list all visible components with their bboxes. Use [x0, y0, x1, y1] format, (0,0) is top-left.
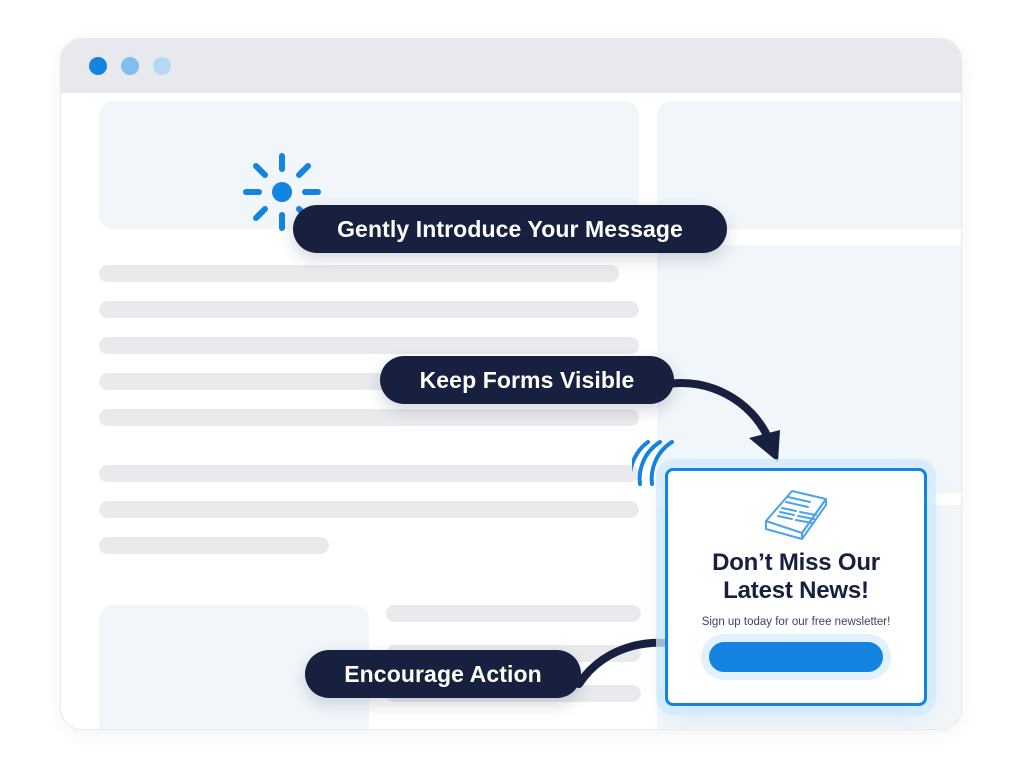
callout-label: Keep Forms Visible — [420, 367, 635, 394]
callout-label: Gently Introduce Your Message — [337, 216, 683, 243]
callout-encourage-action[interactable]: Encourage Action — [305, 650, 581, 698]
skeleton-text-bar — [99, 265, 619, 282]
callout-gently-introduce[interactable]: Gently Introduce Your Message — [293, 205, 727, 253]
popup-title: Don’t Miss Our Latest News! — [712, 549, 880, 605]
popup-subtitle: Sign up today for our free newsletter! — [702, 616, 891, 628]
window-controls — [89, 57, 171, 75]
newspaper-icon — [758, 485, 834, 541]
skeleton-text-bar — [99, 301, 639, 318]
illustration-canvas: Don’t Miss Our Latest News! Sign up toda… — [0, 0, 1024, 783]
skeleton-text-bar — [99, 537, 329, 554]
popup-title-line-2: Latest News! — [712, 577, 880, 605]
newsletter-signup-button[interactable] — [709, 642, 883, 672]
content-panel-sidebar-mid — [657, 245, 961, 493]
newsletter-popup: Don’t Miss Our Latest News! Sign up toda… — [665, 468, 927, 706]
traffic-light-2-icon[interactable] — [121, 57, 139, 75]
skeleton-text-bar — [99, 409, 639, 426]
skeleton-text-bar — [99, 501, 639, 518]
popup-title-line-1: Don’t Miss Our — [712, 549, 880, 577]
callout-keep-forms-visible[interactable]: Keep Forms Visible — [380, 356, 674, 404]
skeleton-text-bar — [99, 465, 639, 482]
skeleton-text-bar — [99, 337, 639, 354]
browser-titlebar — [61, 39, 961, 93]
skeleton-text-bar — [386, 605, 641, 622]
callout-label: Encourage Action — [344, 661, 542, 688]
traffic-light-1-icon[interactable] — [89, 57, 107, 75]
traffic-light-3-icon[interactable] — [153, 57, 171, 75]
